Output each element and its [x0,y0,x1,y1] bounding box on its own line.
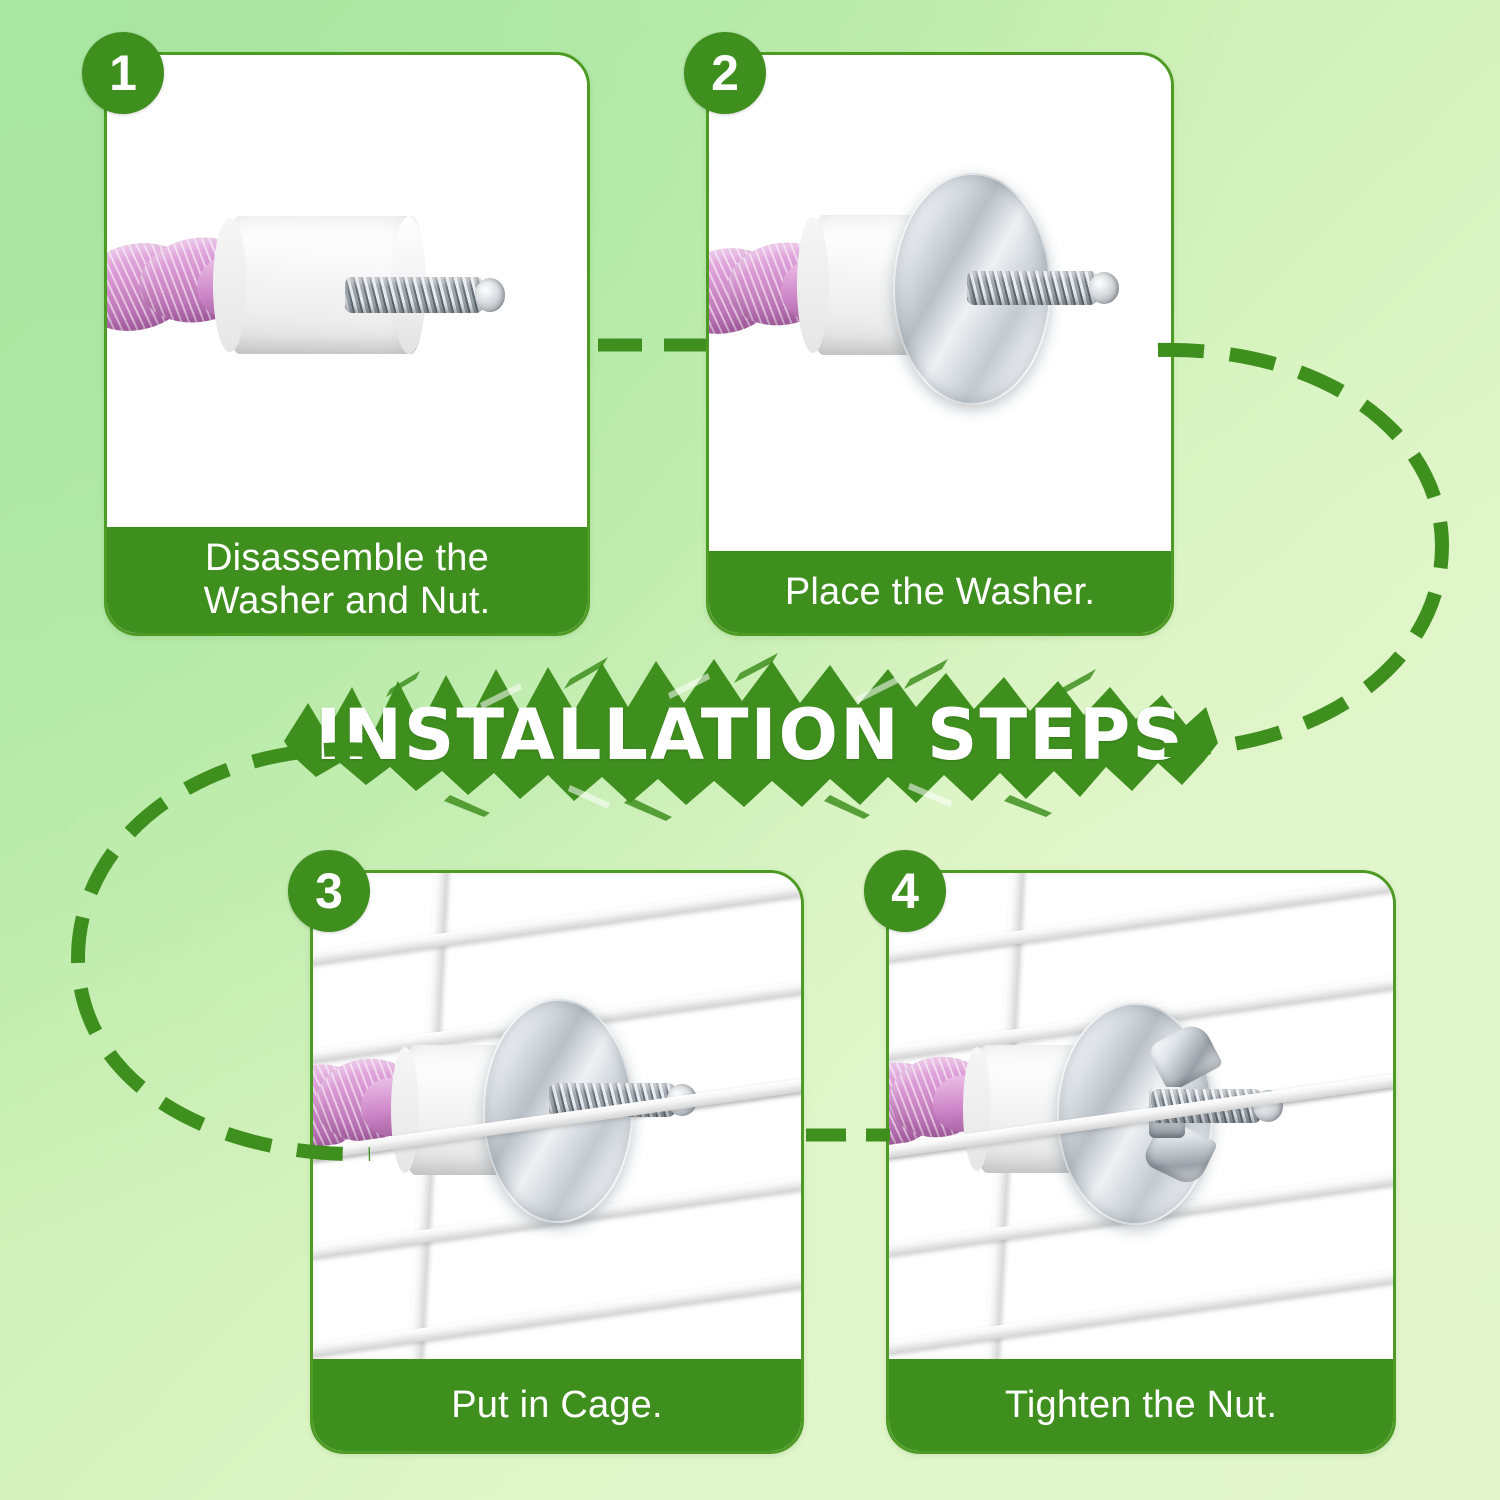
cage-wire-horizontal-front [889,1064,1393,1163]
step-3-caption: Put in Cage. [313,1359,801,1451]
bolt-shaft [345,277,483,313]
sleeve-cap-2 [797,217,829,353]
step-card-4: Tighten the Nut. [886,870,1396,1454]
step-4-caption-text: Tighten the Nut. [1005,1384,1277,1427]
caption-line-2: Washer and Nut. [204,580,491,622]
bolt-shaft [549,1083,675,1117]
cage-wire-horizontal [313,1265,801,1361]
step-1-caption-text: Disassemble the Washer and Nut. [204,537,491,622]
step-2-illustration [709,55,1171,633]
sleeve-cap-1 [213,218,247,352]
step-1-caption: Disassemble the Washer and Nut. [107,527,587,633]
connector-step-1-to-2 [596,330,708,360]
step-2-caption-text: Place the Washer. [785,571,1095,614]
step-badge-3: 3 [288,850,370,932]
sleeve-cap-3 [391,1047,419,1173]
threaded-bolt-3 [549,1083,697,1117]
step-badge-4: 4 [864,850,946,932]
step-4-caption: Tighten the Nut. [889,1359,1393,1451]
bolt-shaft [967,271,1097,305]
step-number-2: 2 [711,44,739,102]
step-card-3: Put in Cage. [310,870,804,1454]
step-badge-1: 1 [82,32,164,114]
title-banner: INSTALLATION STEPS [270,645,1230,825]
step-number-1: 1 [109,44,137,102]
step-number-3: 3 [315,862,343,920]
caption-line-1: Disassemble the [205,537,489,579]
infographic-canvas: Disassemble the Washer and Nut. 1 [0,0,1500,1500]
step-2-caption: Place the Washer. [709,551,1171,633]
step-badge-2: 2 [684,32,766,114]
step-3-caption-text: Put in Cage. [451,1384,663,1427]
bolt-tip [667,1084,697,1115]
step-number-4: 4 [891,862,919,920]
threaded-bolt-1 [345,277,505,313]
step-card-1: Disassemble the Washer and Nut. [104,52,590,636]
step-card-2: Place the Washer. [706,52,1174,636]
title-text: INSTALLATION STEPS [270,645,1230,825]
bolt-tip [1089,272,1119,303]
connector-step-3-to-4 [804,1120,892,1150]
threaded-bolt-2 [967,271,1119,305]
bolt-tip [475,278,505,311]
cage-wire-horizontal [313,873,801,969]
